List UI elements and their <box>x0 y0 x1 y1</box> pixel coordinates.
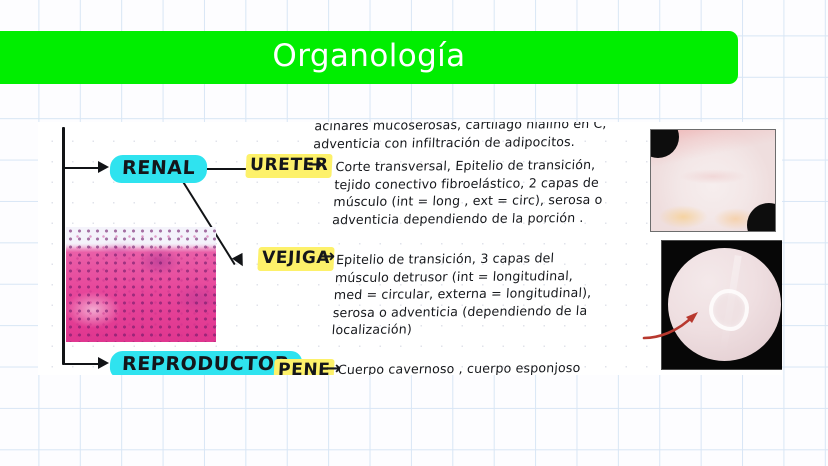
note-text-pene: Cuerpo cavernoso , cuerpo esponjoso <box>337 359 581 375</box>
note-text-ureter: Corte transversal, Epitelio de transició… <box>332 156 605 229</box>
image-cell-texture <box>66 227 216 342</box>
notebook-page: Organología <box>0 0 828 466</box>
arrowhead-renal-icon <box>98 161 109 173</box>
histology-image-hyaline-cartilage <box>650 129 776 232</box>
image-specimen-disc <box>668 248 781 361</box>
histology-image-transitional-epithelium <box>66 227 216 342</box>
arrowhead-reproductor-icon <box>98 357 109 369</box>
image-specimen-lumen <box>709 289 749 331</box>
diagram-label-renal[interactable]: RENAL <box>109 155 208 183</box>
red-arrow-to-bladder-image-icon <box>642 308 702 342</box>
note-arrow-vejiga-icon: → <box>320 246 335 267</box>
page-title-banner: Organología <box>0 31 738 84</box>
page-title: Organología <box>272 41 465 75</box>
note-arrow-ureter-icon: → <box>308 154 323 175</box>
histology-image-bladder-cross-section <box>661 240 782 370</box>
diagram-branch-renal <box>64 167 100 169</box>
note-text-top-fragment: acinares mucoserosas, cartílago hialino … <box>313 122 607 152</box>
arrowhead-vejiga-icon <box>232 253 248 269</box>
diagram-branch-reproductor <box>64 363 100 365</box>
scanned-note-sheet: RENAL REPRODUCTOR URETER VEJIGA PENE → →… <box>38 122 782 375</box>
note-text-vejiga: Epitelio de transición, 3 capas del músc… <box>331 249 594 339</box>
diagram-trunk-line <box>62 127 65 365</box>
